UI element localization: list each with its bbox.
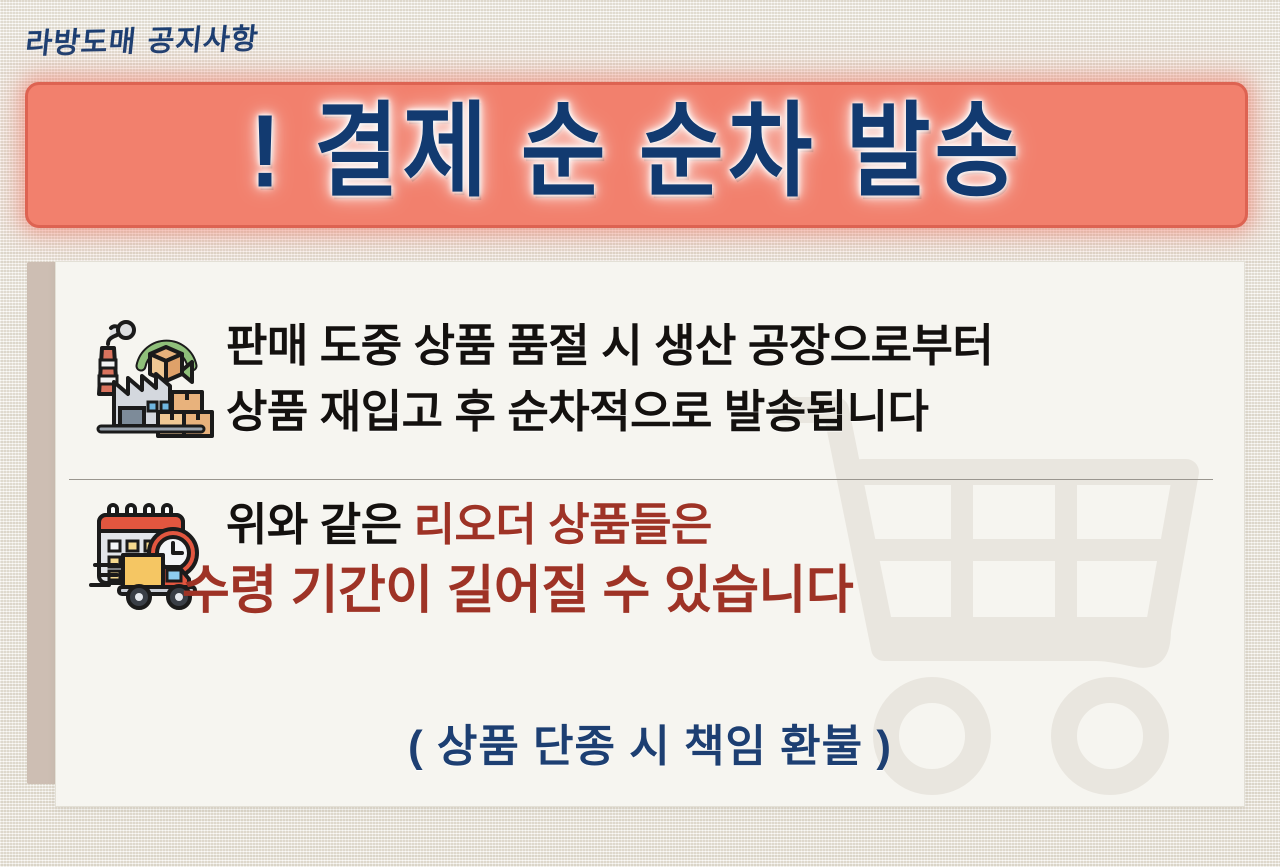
restock-line-1: 판매 도중 상품 품절 시 생산 공장으로부터 [226, 313, 1244, 379]
delay-text: 위와 같은 리오더 상품들은 수령 기간이 길어질 수 있습니다 [226, 492, 1244, 625]
restock-text: 판매 도중 상품 품절 시 생산 공장으로부터 상품 재입고 후 순차적으로 발… [226, 313, 1244, 444]
banner-title: ! 결제 순 순차 발송 [250, 100, 1023, 203]
delay-line-1: 위와 같은 리오더 상품들은 [226, 492, 1244, 558]
notice-section-restock: 판매 도중 상품 품절 시 생산 공장으로부터 상품 재입고 후 순차적으로 발… [56, 262, 1244, 472]
factory-reorder-icon [74, 316, 226, 442]
notice-section-delay: 위와 같은 리오더 상품들은 수령 기간이 길어질 수 있습니다 [56, 472, 1244, 640]
title-banner: ! 결제 순 순차 발송 [25, 82, 1248, 228]
notice-card: 판매 도중 상품 품절 시 생산 공장으로부터 상품 재입고 후 순차적으로 발… [55, 261, 1245, 807]
page-background: 라방도매 공지사항 ! 결제 순 순차 발송 [0, 0, 1280, 867]
delay-line-highlight: 리오더 상품들은 [414, 499, 712, 550]
page-kicker: 라방도매 공지사항 [24, 16, 261, 63]
section-divider [69, 479, 1213, 480]
restock-line-2: 상품 재입고 후 순차적으로 발송됩니다 [226, 379, 1244, 445]
delay-line-prefix: 위와 같은 [226, 499, 414, 550]
footnote-text: ( 상품 단종 시 책임 환불 ) [56, 710, 1244, 774]
delay-line-emphasis: 수령 기간이 길어질 수 있습니다 [182, 558, 1244, 626]
